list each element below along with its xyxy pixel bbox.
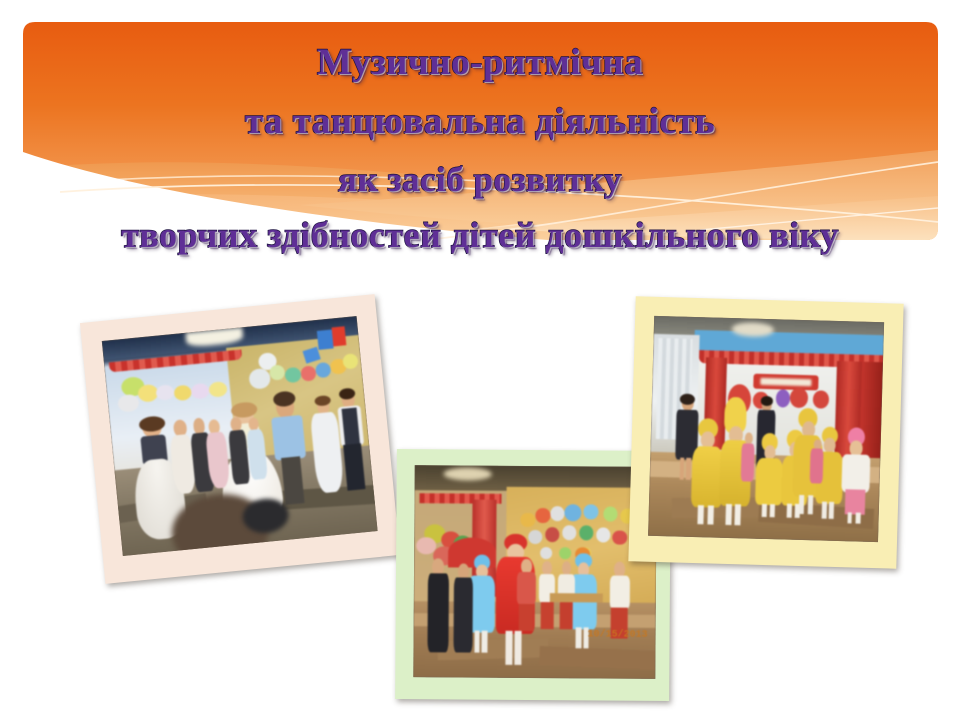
title-line-2: та танцювальна діяльність	[0, 103, 960, 140]
photo-right-image	[648, 316, 884, 542]
photo-right-frame[interactable]	[628, 296, 903, 568]
photo-left-image	[102, 316, 378, 556]
slide-canvas: Музично-ритмічна та танцювальна діяльніс…	[0, 0, 960, 720]
title-line-4: творчих здібностей дітей дошкільного вік…	[0, 217, 960, 253]
photo-timestamp: 10/15/2013	[588, 629, 648, 640]
slide-title: Музично-ритмічна та танцювальна діяльніс…	[0, 44, 960, 253]
photo-center-image: 10/15/2013	[413, 465, 656, 679]
title-line-1: Музично-ритмічна	[0, 44, 960, 81]
photo-left-frame[interactable]	[80, 294, 400, 584]
title-line-3: як засіб розвитку	[0, 162, 960, 197]
